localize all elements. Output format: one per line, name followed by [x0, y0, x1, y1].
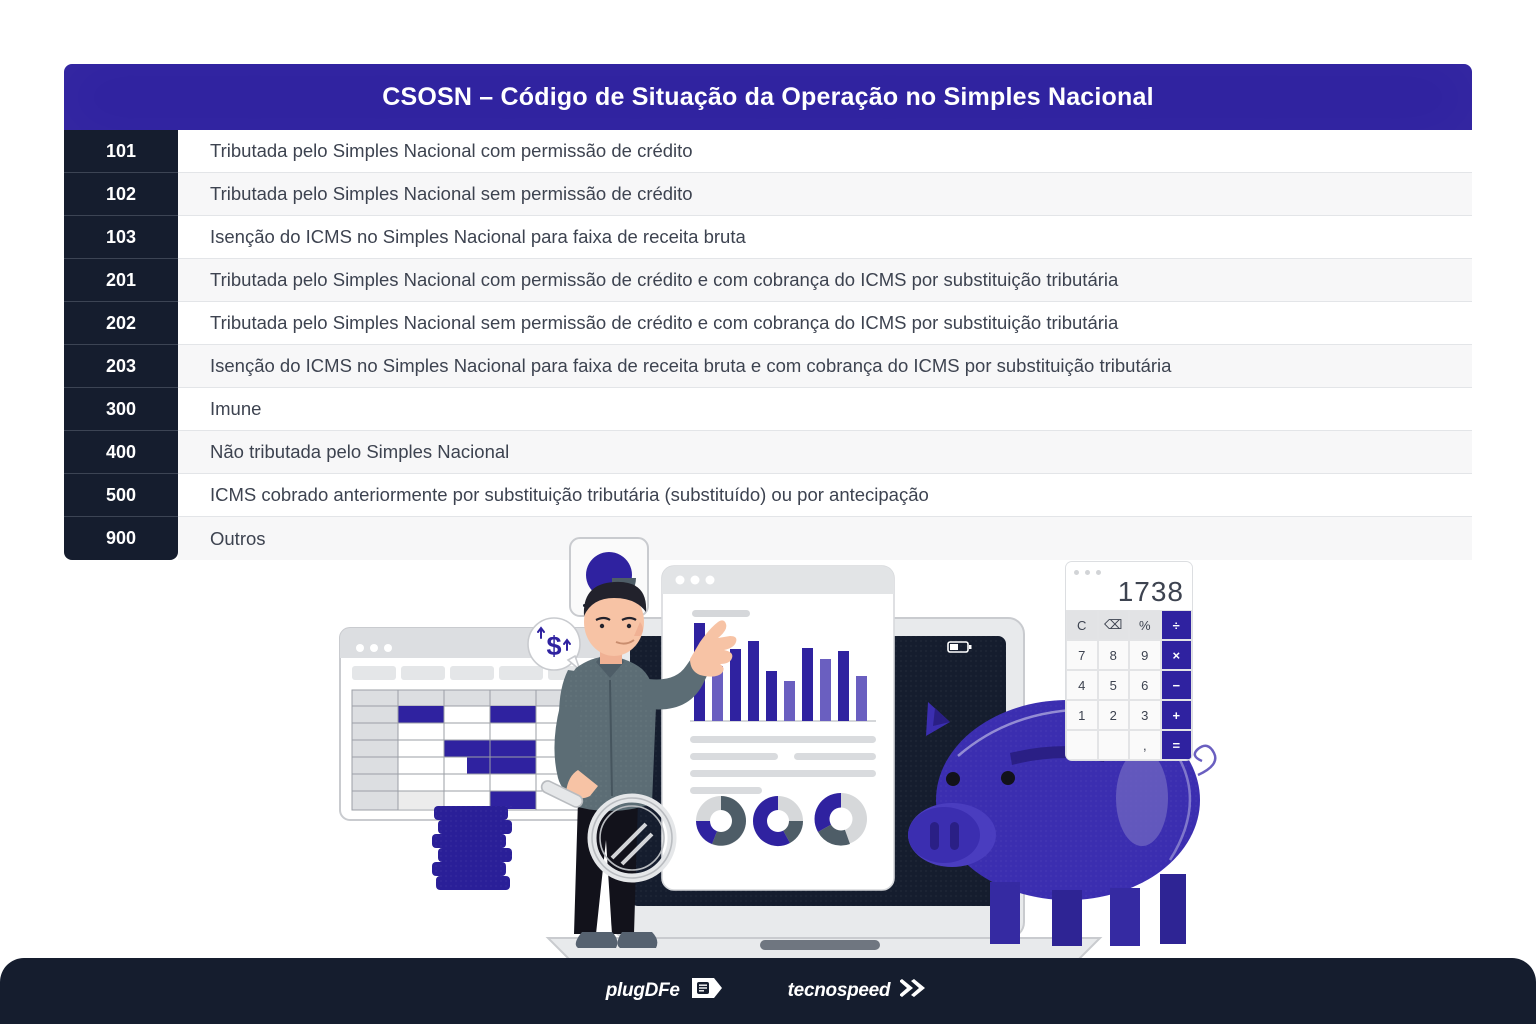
coin-stack — [432, 806, 512, 890]
table-body: 101Tributada pelo Simples Nacional com p… — [64, 130, 1472, 560]
row-description: Tributada pelo Simples Nacional sem perm… — [178, 173, 1472, 216]
magnifying-glass-icon — [540, 779, 672, 878]
calc-key[interactable]: 4 — [1066, 670, 1098, 700]
calc-key[interactable]: 7 — [1066, 640, 1098, 670]
calc-key[interactable]: C — [1066, 610, 1098, 640]
row-description: Tributada pelo Simples Nacional com perm… — [178, 130, 1472, 173]
calc-key[interactable]: ÷ — [1161, 610, 1193, 640]
logo-tecnospeed-label: tecnospeed — [788, 980, 891, 1002]
csosn-table: CSOSN – Código de Situação da Operação n… — [64, 64, 1472, 560]
calc-key[interactable]: − — [1161, 670, 1193, 700]
row-code: 102 — [64, 173, 178, 216]
calc-key[interactable]: 9 — [1129, 640, 1161, 670]
calc-key[interactable]: 5 — [1098, 670, 1130, 700]
dollar-bubble-icon: $ — [528, 618, 580, 670]
table-row: 202Tributada pelo Simples Nacional sem p… — [64, 302, 1472, 345]
row-description: Outros — [178, 517, 1472, 560]
row-code: 900 — [64, 517, 178, 560]
page-title: CSOSN – Código de Situação da Operação n… — [382, 83, 1154, 112]
row-code: 202 — [64, 302, 178, 345]
row-code: 300 — [64, 388, 178, 431]
calc-key[interactable]: + — [1161, 700, 1193, 730]
calc-key[interactable]: = — [1161, 730, 1193, 760]
document-tag-icon — [690, 976, 724, 1006]
double-chevron-icon — [900, 976, 930, 1006]
row-description: ICMS cobrado anteriormente por substitui… — [178, 474, 1472, 517]
table-row: 203Isenção do ICMS no Simples Nacional p… — [64, 345, 1472, 388]
calculator: 1738 C⌫%÷789×456−123+,= — [1066, 562, 1192, 760]
donut-charts — [696, 793, 867, 846]
calc-key[interactable]: × — [1161, 640, 1193, 670]
logo-plugdfe-label: plugDFe — [606, 980, 680, 1002]
row-description: Isenção do ICMS no Simples Nacional para… — [178, 345, 1472, 388]
table-row: 102Tributada pelo Simples Nacional sem p… — [64, 173, 1472, 216]
calc-key[interactable] — [1098, 730, 1130, 760]
calc-key[interactable]: 1 — [1066, 700, 1098, 730]
calc-key[interactable]: % — [1129, 610, 1161, 640]
svg-text:$: $ — [546, 631, 561, 661]
calculator-display: 1738 — [1118, 576, 1184, 608]
table-header: CSOSN – Código de Situação da Operação n… — [64, 64, 1472, 130]
bar-chart — [690, 623, 876, 721]
laptop-device — [548, 618, 1100, 962]
spreadsheet-window — [340, 628, 690, 820]
calc-key[interactable] — [1066, 730, 1098, 760]
calc-key[interactable]: 6 — [1129, 670, 1161, 700]
donut-3 — [815, 793, 867, 846]
donut-1 — [696, 796, 746, 846]
calc-key[interactable]: , — [1129, 730, 1161, 760]
logo-plugdfe[interactable]: plugDFe — [606, 976, 724, 1006]
calc-key[interactable]: 2 — [1098, 700, 1130, 730]
calc-dot — [1096, 570, 1101, 575]
row-description: Não tributada pelo Simples Nacional — [178, 431, 1472, 474]
table-row: 300Imune — [64, 388, 1472, 431]
row-description: Tributada pelo Simples Nacional com perm… — [178, 259, 1472, 302]
row-code: 201 — [64, 259, 178, 302]
person-illustration — [540, 582, 737, 948]
calc-key[interactable]: 3 — [1129, 700, 1161, 730]
row-code: 103 — [64, 216, 178, 259]
logo-tecnospeed[interactable]: tecnospeed — [788, 976, 931, 1006]
row-code: 500 — [64, 474, 178, 517]
table-row: 400Não tributada pelo Simples Nacional — [64, 431, 1472, 474]
table-row: 500ICMS cobrado anteriormente por substi… — [64, 474, 1472, 517]
row-description: Imune — [178, 388, 1472, 431]
battery-icon — [948, 642, 972, 652]
calc-key[interactable]: 8 — [1098, 640, 1130, 670]
calculator-keypad[interactable]: C⌫%÷789×456−123+,= — [1066, 610, 1192, 760]
footer-bar: plugDFe tecnospeed — [0, 958, 1536, 1024]
table-row: 900Outros — [64, 517, 1472, 560]
calc-dot — [1074, 570, 1079, 575]
calc-key[interactable]: ⌫ — [1098, 610, 1130, 640]
calc-dot — [1085, 570, 1090, 575]
spreadsheet-grid — [352, 690, 638, 810]
row-description: Isenção do ICMS no Simples Nacional para… — [178, 216, 1472, 259]
row-description: Tributada pelo Simples Nacional sem perm… — [178, 302, 1472, 345]
row-code: 203 — [64, 345, 178, 388]
row-code: 101 — [64, 130, 178, 173]
table-row: 201Tributada pelo Simples Nacional com p… — [64, 259, 1472, 302]
row-code: 400 — [64, 431, 178, 474]
table-row: 101Tributada pelo Simples Nacional com p… — [64, 130, 1472, 173]
donut-2 — [753, 796, 803, 846]
table-row: 103Isenção do ICMS no Simples Nacional p… — [64, 216, 1472, 259]
dashboard-report-card — [662, 566, 894, 890]
